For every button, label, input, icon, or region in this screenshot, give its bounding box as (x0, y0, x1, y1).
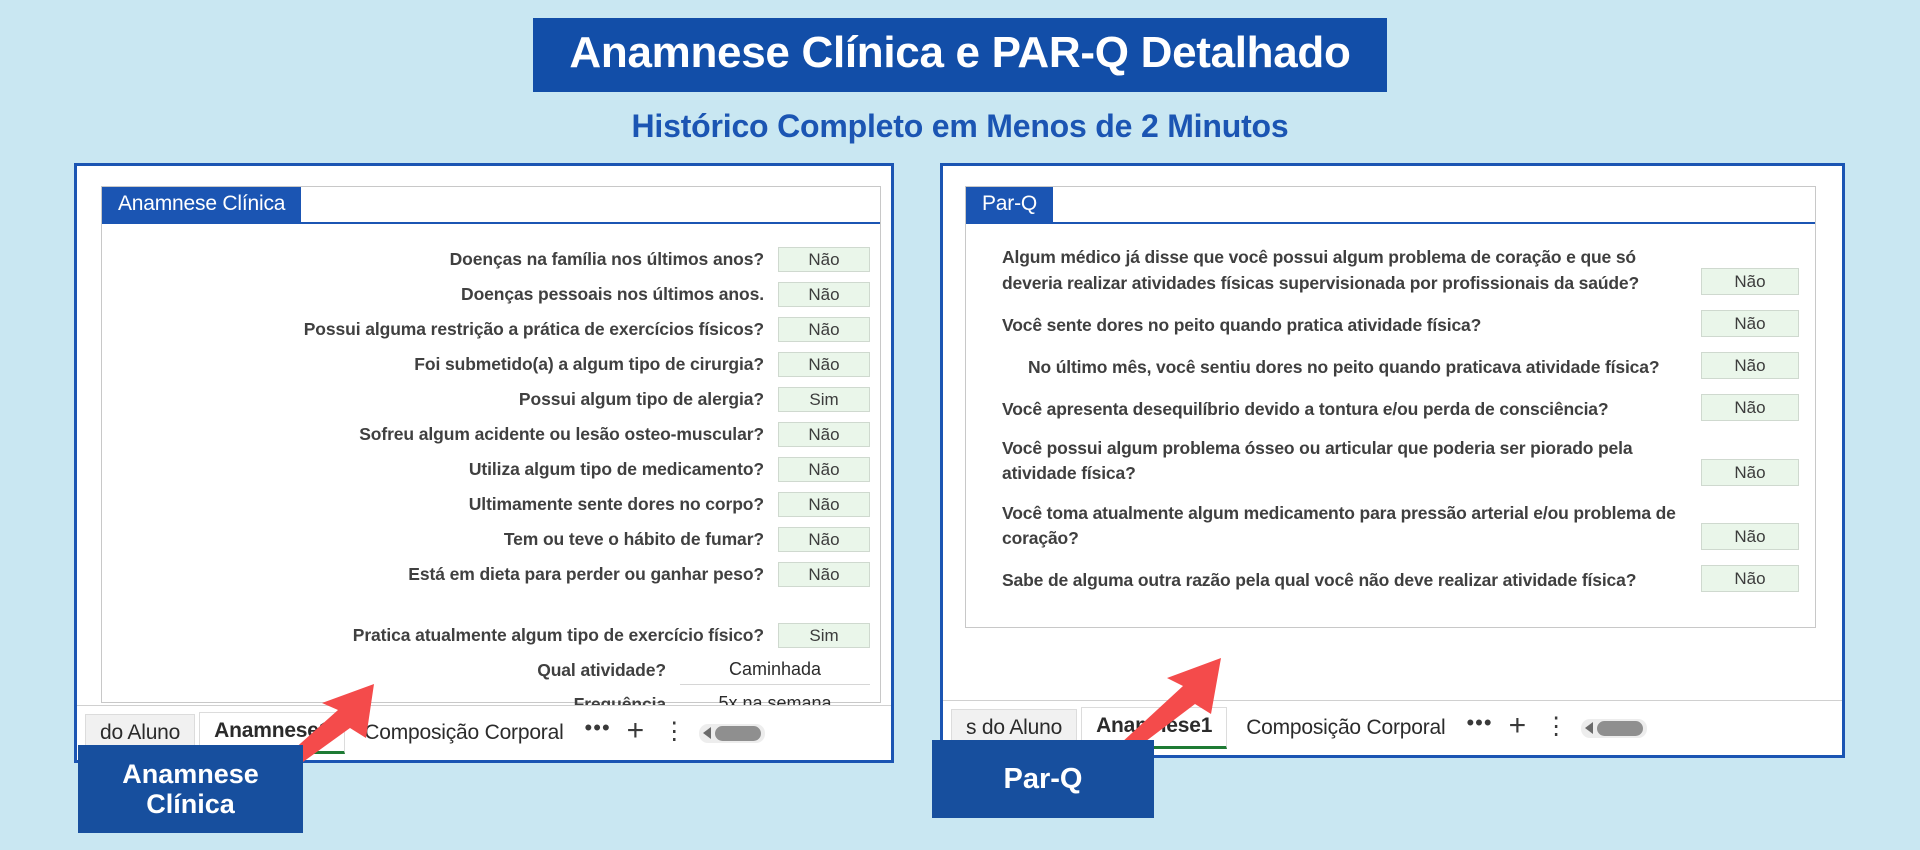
anamnese-detail-value[interactable]: Caminhada (680, 655, 870, 685)
sheet-options-kebab-icon[interactable]: ⋮ (658, 717, 699, 750)
anamnese-question-row: Foi submetido(a) a algum tipo de cirurgi… (102, 347, 870, 382)
anamnese-question-label: Possui algum tipo de alergia? (519, 389, 778, 410)
par-q-question-label: Você apresenta desequilíbrio devido a to… (1002, 397, 1701, 422)
anamnese-question-label: Tem ou teve o hábito de fumar? (504, 529, 778, 550)
anamnese-exercise-answer-cell[interactable]: Sim (778, 623, 870, 648)
anamnese-question-row: Doenças na família nos últimos anos?Não (102, 242, 870, 277)
horizontal-scrollbar[interactable] (1581, 719, 1647, 738)
par-q-sheet-area: Par-Q Algum médico já disse que você pos… (943, 166, 1842, 700)
sheet-tab-composicao-corporal[interactable]: Composição Corporal (1231, 709, 1460, 748)
anamnese-detail-row: Frequência5x na semana (102, 687, 870, 705)
anamnese-question-row: Possui alguma restrição a prática de exe… (102, 312, 870, 347)
par-q-answer-cell[interactable]: Não (1701, 523, 1799, 550)
par-q-answer-cell[interactable]: Não (1701, 394, 1799, 421)
par-q-answer-cell[interactable]: Não (1701, 268, 1799, 295)
anamnese-question-label: Doenças na família nos últimos anos? (450, 249, 778, 270)
callout-anamnese-clinica: Anamnese Clínica (78, 745, 303, 833)
add-sheet-icon[interactable]: + (619, 714, 659, 752)
par-q-card-rule (966, 222, 1815, 224)
anamnese-question-row: Utiliza algum tipo de medicamento?Não (102, 452, 870, 487)
page-header: Anamnese Clínica e PAR-Q Detalhado Histó… (0, 0, 1920, 145)
page-title: Anamnese Clínica e PAR-Q Detalhado (533, 18, 1386, 92)
anamnese-exercise-label: Pratica atualmente algum tipo de exercíc… (353, 625, 778, 646)
horizontal-scrollbar[interactable] (699, 724, 765, 743)
par-q-form-card: Par-Q Algum médico já disse que você pos… (965, 186, 1816, 628)
anamnese-question-label: Está em dieta para perder ou ganhar peso… (408, 564, 778, 585)
par-q-question-label: Você toma atualmente algum medicamento p… (1002, 501, 1701, 552)
par-q-question-row: Você apresenta desequilíbrio devido a to… (1002, 394, 1799, 422)
scroll-thumb[interactable] (715, 726, 761, 741)
more-tabs-ellipsis-icon[interactable]: ••• (583, 715, 619, 751)
par-q-answer-cell[interactable]: Não (1701, 565, 1799, 592)
anamnese-question-row: Doenças pessoais nos últimos anos.Não (102, 277, 870, 312)
anamnese-answer-cell[interactable]: Não (778, 492, 870, 517)
anamnese-question-label: Utiliza algum tipo de medicamento? (469, 459, 778, 480)
anamnese-question-label: Foi submetido(a) a algum tipo de cirurgi… (414, 354, 778, 375)
anamnese-answer-cell[interactable]: Não (778, 527, 870, 552)
par-q-question-row: Sabe de alguma outra razão pela qual voc… (1002, 565, 1799, 593)
anamnese-card-title: Anamnese Clínica (102, 187, 301, 223)
anamnese-card-rule (102, 222, 880, 224)
par-q-question-row: Você possui algum problema ósseo ou arti… (1002, 436, 1799, 487)
anamnese-question-label: Possui alguma restrição a prática de exe… (304, 319, 778, 340)
par-q-question-label: Você possui algum problema ósseo ou arti… (1002, 436, 1701, 487)
anamnese-question-rows: Doenças na família nos últimos anos?NãoD… (102, 242, 870, 705)
anamnese-answer-cell[interactable]: Não (778, 247, 870, 272)
anamnese-question-row: Ultimamente sente dores no corpo?Não (102, 487, 870, 522)
anamnese-question-label: Ultimamente sente dores no corpo? (469, 494, 778, 515)
par-q-question-row: Algum médico já disse que você possui al… (1002, 245, 1799, 296)
anamnese-answer-cell[interactable]: Sim (778, 387, 870, 412)
par-q-question-label: Algum médico já disse que você possui al… (1002, 245, 1701, 296)
anamnese-answer-cell[interactable]: Não (778, 457, 870, 482)
anamnese-answer-cell[interactable]: Não (778, 562, 870, 587)
anamnese-question-label: Doenças pessoais nos últimos anos. (461, 284, 778, 305)
par-q-answer-cell[interactable]: Não (1701, 310, 1799, 337)
par-q-window: Par-Q Algum médico já disse que você pos… (940, 163, 1845, 758)
anamnese-question-row: Está em dieta para perder ou ganhar peso… (102, 557, 870, 592)
sheet-options-kebab-icon[interactable]: ⋮ (1540, 712, 1581, 745)
anamnese-detail-label: Qual atividade? (537, 660, 680, 681)
anamnese-form-card: Anamnese Clínica Doenças na família nos … (101, 186, 881, 703)
par-q-question-row: No último mês, você sentiu dores no peit… (1002, 352, 1799, 380)
anamnese-answer-cell[interactable]: Não (778, 352, 870, 377)
more-tabs-ellipsis-icon[interactable]: ••• (1464, 710, 1500, 746)
anamnese-clinica-window: Anamnese Clínica Doenças na família nos … (74, 163, 894, 763)
anamnese-question-label: Sofreu algum acidente ou lesão osteo-mus… (359, 424, 778, 445)
scroll-left-arrow-icon[interactable] (703, 727, 711, 739)
callout-par-q: Par-Q (932, 740, 1154, 818)
anamnese-exercise-row: Pratica atualmente algum tipo de exercíc… (102, 618, 870, 653)
anamnese-answer-cell[interactable]: Não (778, 422, 870, 447)
page-subtitle: Histórico Completo em Menos de 2 Minutos (0, 108, 1920, 145)
anamnese-detail-row: Qual atividade?Caminhada (102, 653, 870, 687)
par-q-question-label: No último mês, você sentiu dores no peit… (1002, 355, 1701, 380)
scroll-thumb[interactable] (1597, 721, 1643, 736)
anamnese-sheet-area: Anamnese Clínica Doenças na família nos … (77, 166, 891, 705)
par-q-question-row: Você toma atualmente algum medicamento p… (1002, 501, 1799, 552)
anamnese-detail-value[interactable]: 5x na semana (680, 689, 870, 705)
add-sheet-icon[interactable]: + (1501, 709, 1541, 747)
anamnese-question-row: Possui algum tipo de alergia?Sim (102, 382, 870, 417)
anamnese-answer-cell[interactable]: Não (778, 317, 870, 342)
par-q-question-label: Você sente dores no peito quando pratica… (1002, 313, 1701, 338)
par-q-answer-cell[interactable]: Não (1701, 459, 1799, 486)
anamnese-answer-cell[interactable]: Não (778, 282, 870, 307)
par-q-question-rows: Algum médico já disse que você possui al… (1002, 245, 1799, 607)
par-q-question-label: Sabe de alguma outra razão pela qual voc… (1002, 568, 1701, 593)
par-q-card-title: Par-Q (966, 187, 1053, 223)
anamnese-question-row: Sofreu algum acidente ou lesão osteo-mus… (102, 417, 870, 452)
par-q-question-row: Você sente dores no peito quando pratica… (1002, 310, 1799, 338)
anamnese-row-spacer (102, 592, 870, 618)
anamnese-detail-label: Frequência (574, 694, 680, 706)
scroll-left-arrow-icon[interactable] (1585, 722, 1593, 734)
par-q-answer-cell[interactable]: Não (1701, 352, 1799, 379)
anamnese-question-row: Tem ou teve o hábito de fumar?Não (102, 522, 870, 557)
